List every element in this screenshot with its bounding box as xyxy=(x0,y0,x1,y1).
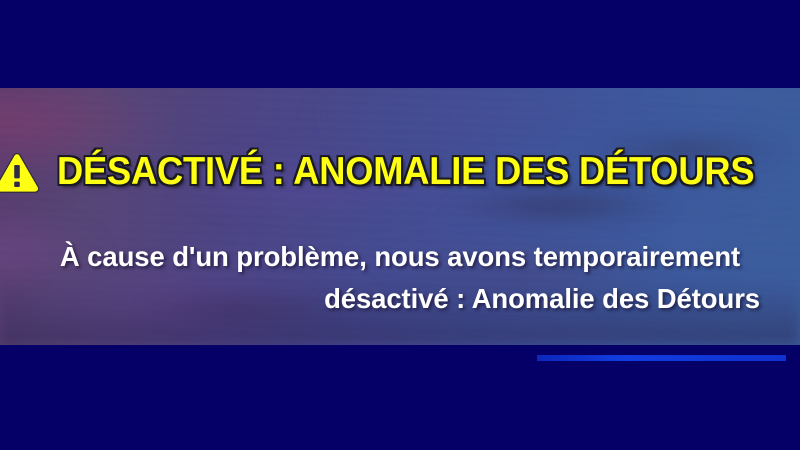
letterbox-top xyxy=(0,0,800,88)
alert-body: À cause d'un problème, nous avons tempor… xyxy=(0,236,800,320)
alert-headline: DÉSACTIVÉ : ANOMALIE DES DÉTOURS xyxy=(57,152,754,192)
announcement-screen: DÉSACTIVÉ : ANOMALIE DES DÉTOURS À cause… xyxy=(0,0,800,450)
alert-content: DÉSACTIVÉ : ANOMALIE DES DÉTOURS À cause… xyxy=(0,88,800,345)
alert-body-line-1: À cause d'un problème, nous avons tempor… xyxy=(18,236,782,278)
headline-row: DÉSACTIVÉ : ANOMALIE DES DÉTOURS xyxy=(0,150,800,194)
alert-body-line-2: désactivé : Anomalie des Détours xyxy=(18,278,782,320)
accent-underline-bar xyxy=(537,355,786,361)
warning-triangle-icon xyxy=(0,152,40,194)
